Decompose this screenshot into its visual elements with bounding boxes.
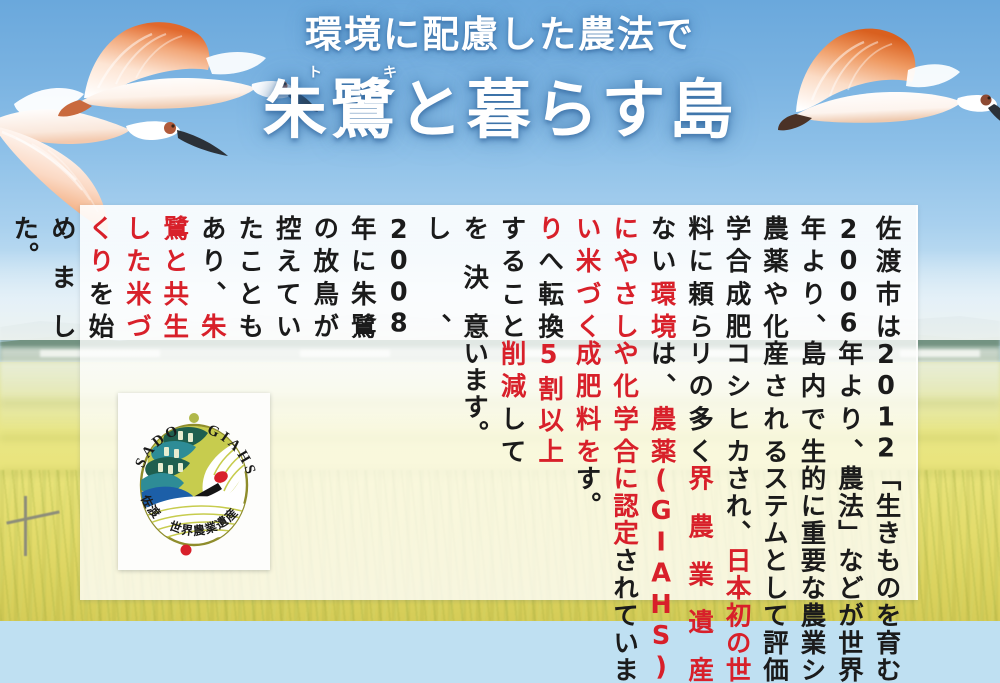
crested-ibis-left-upper [58,14,318,154]
crested-ibis-right [778,20,1000,170]
p2-text-a: 2012年より、島内で生産されるコシヒカリの多くは、 [646,340,901,465]
logo-top-dot [189,413,199,423]
panel-right-edge [916,205,918,600]
sado-giahs-emblem: SADO GIAHS 佐渡 世界農業遺産 [118,393,270,570]
p1-text-b: へ転換することを決意し、2008年に朱鷺の放鳥が控えていたこともあり、 [196,215,563,340]
p1-text-a: 佐渡市は2006年より、農薬や化学合成肥料に頼らない [646,215,901,340]
paragraph-1: 佐渡市は2006年より、農薬や化学合成肥料に頼らない環境にやさしい米づくりへ転換… [4,215,904,340]
logo-bottom-dot [181,545,192,556]
